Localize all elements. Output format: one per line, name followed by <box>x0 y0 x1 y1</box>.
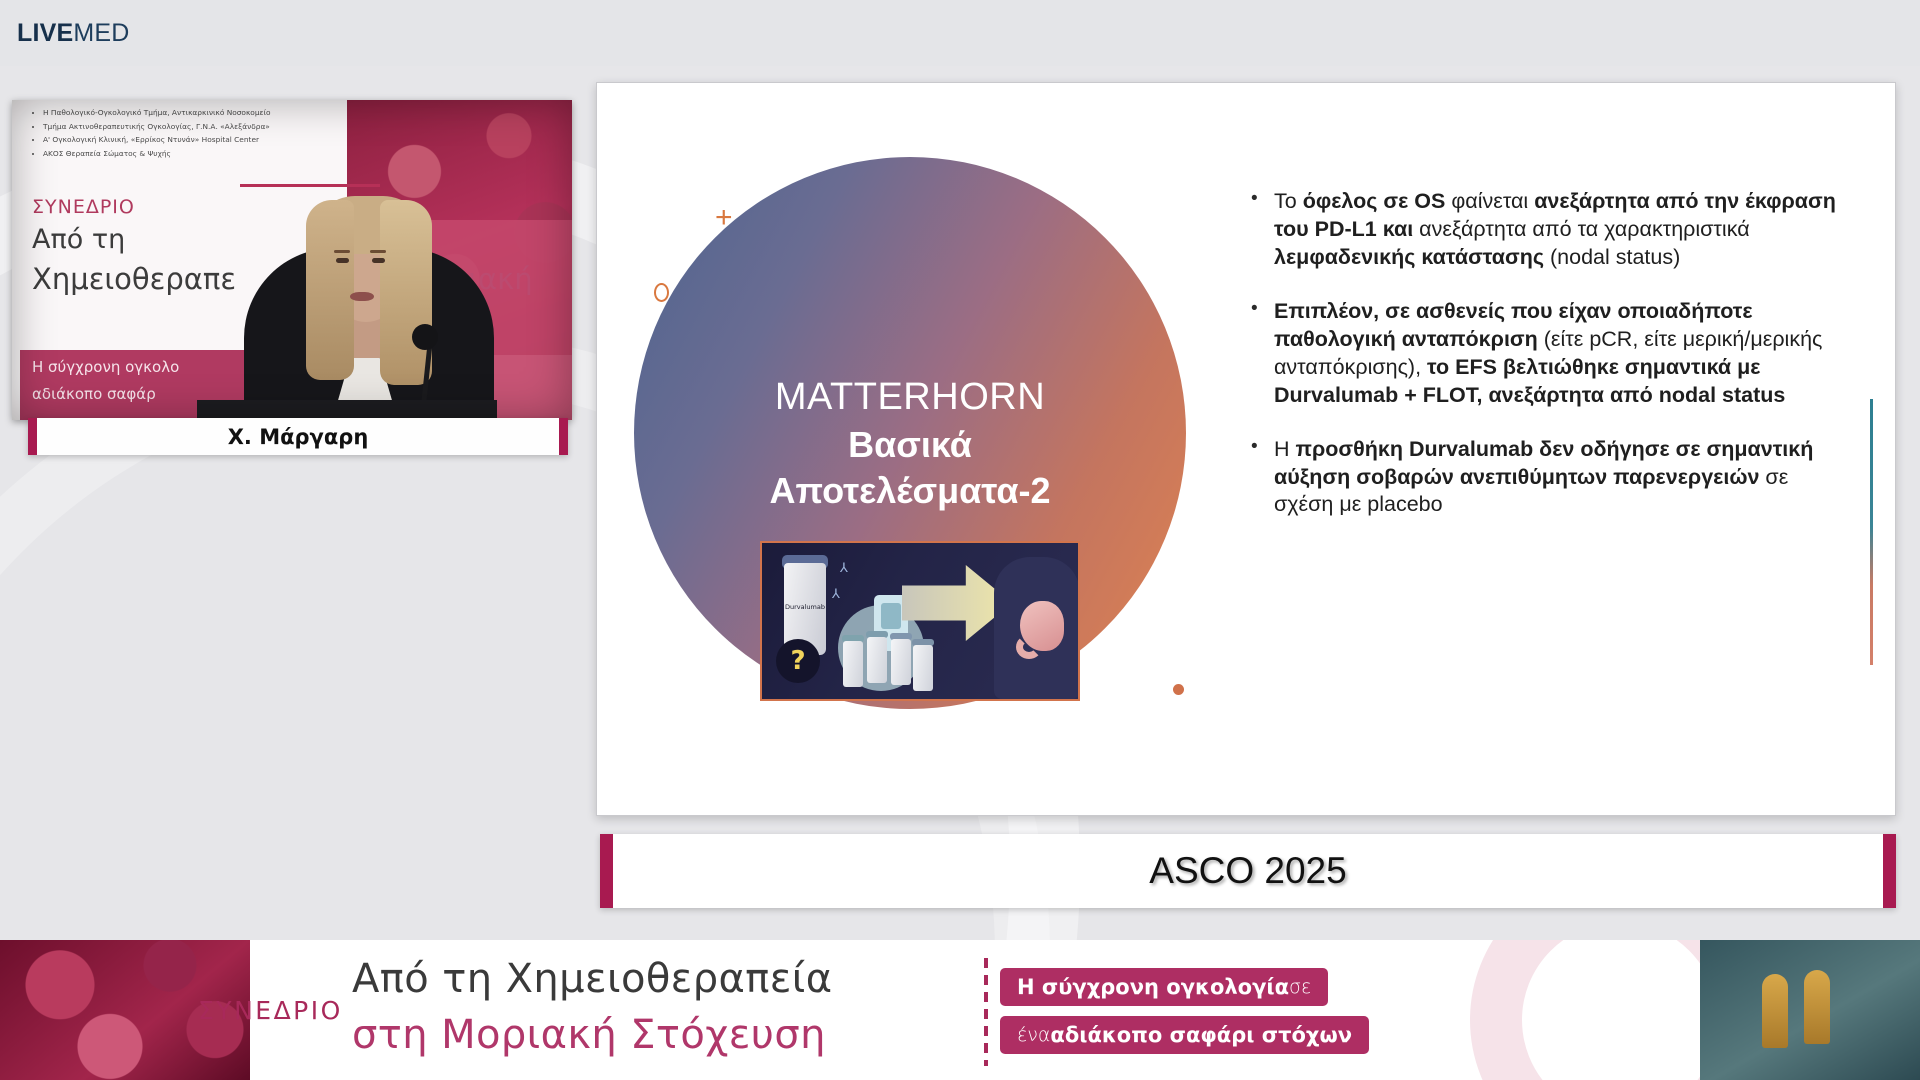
list-item: Το όφελος σε OS φαίνεται ανεξάρτητα από … <box>1247 188 1847 272</box>
small-vial-1 <box>843 641 863 687</box>
banner-pill-1: Η σύγχρονη ογκολογία σε <box>1000 968 1328 1006</box>
slide-bullet-list: Το όφελος σε OS φαίνεται ανεξάρτητα από … <box>1247 188 1847 545</box>
list-item: Α' Ογκολογική Κλινική, «Ερρίκος Ντυνάν» … <box>43 133 334 147</box>
slide-heading-sub-line1: Βασικά <box>634 422 1186 469</box>
poster-title-line2: Χημειοθεραπε <box>32 262 236 296</box>
small-vial-2 <box>867 637 887 683</box>
list-item: Η Παθολογικό-Ογκολογικό Τμήμα, Αντικαρκι… <box>43 106 334 120</box>
poster-title-line1: Από τη <box>32 224 125 255</box>
list-item: Τμήμα Ακτινοθεραπευτικής Ογκολογίας, Γ.Ν… <box>43 120 334 134</box>
banner-divider <box>984 958 988 1066</box>
video-frame: Η Παθολογικό-Ογκολογικό Τμήμα, Αντικαρκι… <box>12 100 572 420</box>
slide-heading-sub-line2: Αποτελέσματα-2 <box>634 468 1186 515</box>
livemed-logo[interactable]: LIVEMED <box>17 21 130 46</box>
banner-synedrio-label: ΣΥΝΕΔΡΙΟ <box>198 996 343 1025</box>
speaker-eyebrow-right <box>370 250 386 253</box>
poster-band-text-1: Η σύγχρονη ογκολο <box>32 358 179 376</box>
small-vial-3 <box>891 639 911 685</box>
medical-illustration: Durvalumab ? ⅄ ⅄ <box>760 541 1080 701</box>
poster-organizer-list: Η Παθολογικό-Ογκολογικό Τμήμα, Αντικαρκι… <box>34 106 334 161</box>
small-vial-4 <box>913 645 933 691</box>
poster-band-text-2: αδιάκοπο σαφάρ <box>32 385 156 403</box>
dot-icon <box>1173 684 1184 695</box>
list-item: Επιπλέον, σε ασθενείς που είχαν οποιαδήπ… <box>1247 298 1847 410</box>
antibody-icon-2: ⅄ <box>832 587 840 602</box>
list-item: ΑΚΟΣ Θεραπεία Σώματος & Ψυχής <box>43 147 334 161</box>
podium <box>197 400 497 420</box>
logo-med-text: MED <box>73 19 129 47</box>
question-mark-badge: ? <box>776 639 820 683</box>
banner-pill-2-text: αδιάκοπο σαφάρι στόχων <box>1050 1023 1352 1047</box>
statue-figure-right <box>1804 970 1830 1044</box>
speaker-name-label: Χ. Μάργαρη <box>228 425 369 449</box>
duodenum-icon <box>1016 635 1042 659</box>
antibody-icon-1: ⅄ <box>840 561 848 576</box>
banner-pill-2-prefix: ένα <box>1017 1024 1050 1046</box>
app-root: LIVEMED Η Παθολογικό-Ογκολογικό Τμήμα, Α… <box>0 0 1920 1080</box>
banner-title-line2: στη Μοριακή Στόχευση <box>352 1012 826 1058</box>
speaker-eye-left <box>336 258 349 263</box>
speaker-mouth <box>350 292 374 301</box>
slide-heading: MATTERHORN Βασικά Αποτελέσματα-2 <box>634 373 1186 515</box>
top-brand-bar: LIVEMED <box>0 0 1920 66</box>
sponsor-banner[interactable]: ΣΥΝΕΔΡΙΟ Από τη Χημειοθεραπεία στη Μορια… <box>0 940 1920 1080</box>
conference-label: ASCO 2025 <box>1149 850 1346 892</box>
poster-synedrio-label: ΣΥΝΕΔΡΙΟ <box>32 196 135 218</box>
speaker-eyebrow-left <box>334 250 350 253</box>
speaker-eye-right <box>372 258 385 263</box>
speaker-video-player[interactable]: Η Παθολογικό-Ογκολογικό Τμήμα, Αντικαρκι… <box>12 100 572 420</box>
speaker-hair-right <box>380 200 432 385</box>
slide-heading-main: MATTERHORN <box>634 373 1186 422</box>
logo-live-text: LIVE <box>17 19 73 47</box>
speaker-name-plate: Χ. Μάργαρη <box>28 418 568 455</box>
conference-footer-bar: ASCO 2025 <box>600 834 1896 908</box>
presentation-slide[interactable]: + MATTERHORN Βασικά Αποτελέσματα-2 Durva… <box>596 82 1896 816</box>
statue-figure-left <box>1762 974 1788 1048</box>
banner-pill-1-text: Η σύγχρονη ογκολογία <box>1017 975 1289 999</box>
banner-pill-2: ένα αδιάκοπο σαφάρι στόχων <box>1000 1016 1369 1054</box>
speaker-hair-left <box>306 200 354 380</box>
banner-statue-artwork <box>1700 940 1920 1080</box>
microphone-icon <box>412 324 438 350</box>
vial-label: Durvalumab <box>783 603 827 611</box>
poster-rule <box>240 184 380 187</box>
banner-title-line1: Από τη Χημειοθεραπεία <box>352 956 832 1002</box>
infusion-pouch-fill <box>881 603 901 629</box>
circle-outline-icon <box>654 283 669 302</box>
accent-vertical-line <box>1870 399 1873 665</box>
banner-pill-1-tail: σε <box>1289 976 1311 998</box>
list-item: Η προσθήκη Durvalumab δεν οδήγησε σε σημ… <box>1247 436 1847 520</box>
